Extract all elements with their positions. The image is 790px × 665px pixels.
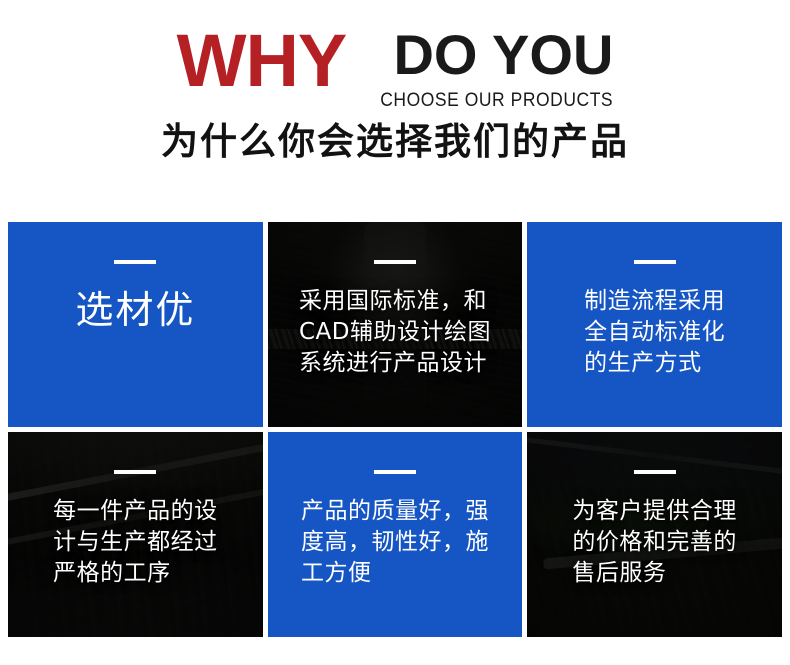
divider-line — [634, 470, 676, 474]
cell-content: 制造流程采用 全自动标准化 的生产方式 — [539, 260, 770, 379]
feature-text: 选材优 — [75, 286, 195, 334]
feature-cell-material[interactable]: 选材优 — [8, 222, 263, 427]
divider-line — [374, 260, 416, 264]
cell-content: 选材优 — [20, 260, 251, 334]
headline-choose-our-products: CHOOSE OUR PRODUCTS — [381, 89, 614, 113]
divider-line — [374, 470, 416, 474]
page-header: WHY DO YOU CHOOSE OUR PRODUCTS 为什么你会选择我们… — [0, 0, 790, 164]
divider-line — [114, 470, 156, 474]
cell-content: 为客户提供合理 的价格和完善的 售后服务 — [539, 470, 770, 589]
feature-cell-process[interactable]: 每一件产品的设 计与生产都经过 严格的工序 — [8, 432, 263, 637]
headline-right-stack: DO YOU CHOOSE OUR PRODUCTS — [360, 22, 613, 113]
feature-text: 采用国际标准，和 CAD辅助设计绘图 系统进行产品设计 — [299, 286, 491, 379]
cell-content: 产品的质量好，强 度高，韧性好，施 工方便 — [280, 470, 511, 589]
cell-content: 采用国际标准，和 CAD辅助设计绘图 系统进行产品设计 — [280, 260, 511, 379]
headline-do-you: DO YOU — [393, 27, 613, 83]
feature-cell-service[interactable]: 为客户提供合理 的价格和完善的 售后服务 — [527, 432, 782, 637]
feature-cell-automation[interactable]: 制造流程采用 全自动标准化 的生产方式 — [527, 222, 782, 427]
page-subtitle: 为什么你会选择我们的产品 — [0, 120, 790, 164]
feature-text: 为客户提供合理 的价格和完善的 售后服务 — [572, 496, 737, 589]
feature-cell-quality[interactable]: 产品的质量好，强 度高，韧性好，施 工方便 — [268, 432, 523, 637]
headline-why: WHY — [177, 22, 347, 100]
feature-text: 产品的质量好，强 度高，韧性好，施 工方便 — [301, 496, 489, 589]
divider-line — [634, 260, 676, 264]
cell-content: 每一件产品的设 计与生产都经过 严格的工序 — [20, 470, 251, 589]
feature-text: 每一件产品的设 计与生产都经过 严格的工序 — [53, 496, 218, 589]
divider-line — [114, 260, 156, 264]
feature-cell-standards[interactable]: 采用国际标准，和 CAD辅助设计绘图 系统进行产品设计 — [268, 222, 523, 427]
headline-row: WHY DO YOU CHOOSE OUR PRODUCTS — [0, 22, 790, 104]
feature-grid: 选材优 采用国际标准，和 CAD辅助设计绘图 系统进行产品设计 制造流程采用 全… — [8, 222, 782, 637]
feature-text: 制造流程采用 全自动标准化 的生产方式 — [584, 286, 725, 379]
